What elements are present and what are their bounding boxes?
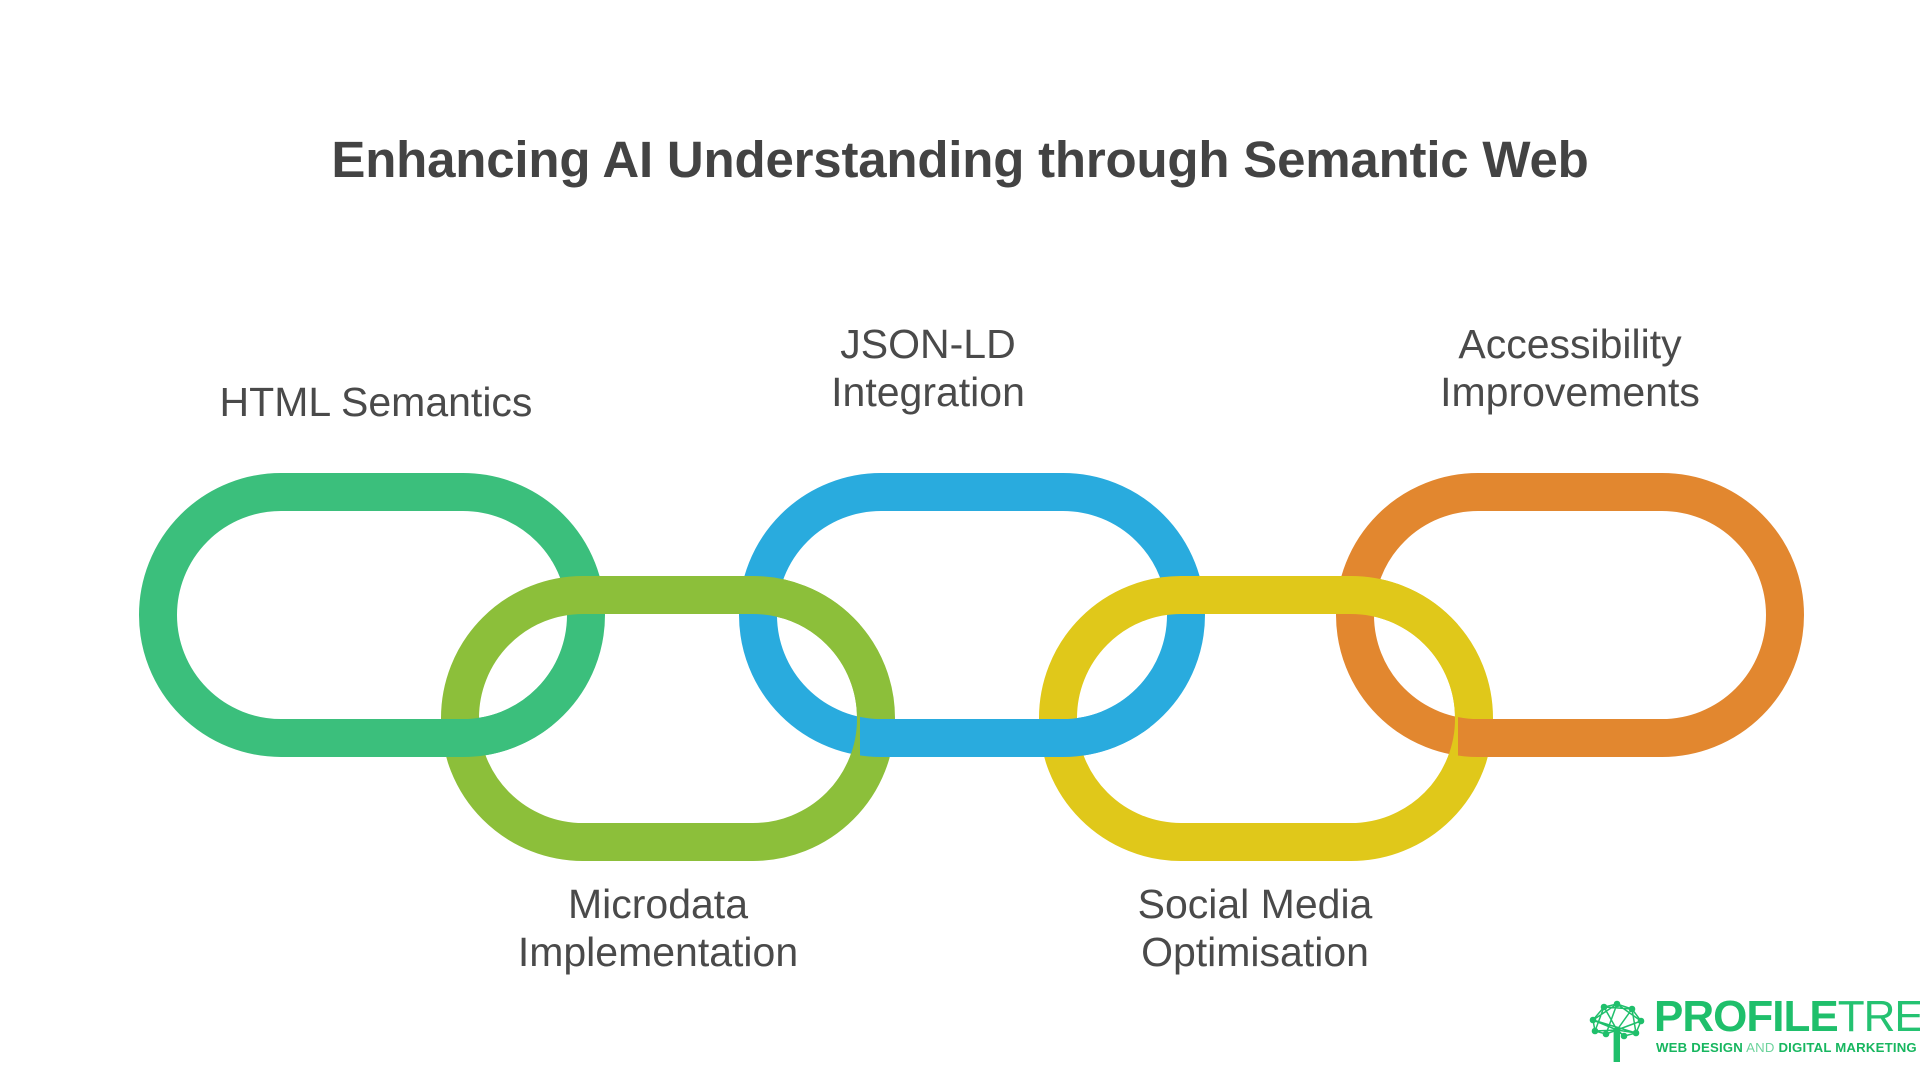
logo-tagline-digital-marketing: DIGITAL MARKETING <box>1778 1040 1916 1055</box>
chain-label-html-semantics: HTML Semantics <box>126 378 626 426</box>
chain-label-accessibility: Accessibility Improvements <box>1340 320 1800 417</box>
logo-word-profile: PROFILE <box>1654 992 1838 1041</box>
chain-label-microdata: Microdata Implementation <box>428 880 888 977</box>
logo-tagline: WEB DESIGN AND DIGITAL MARKETING <box>1656 1040 1920 1055</box>
profiletree-logo[interactable]: PROFILETREE WEB DESIGN AND DIGITAL MARKE… <box>1586 998 1906 1072</box>
logo-tagline-web-design: WEB DESIGN <box>1656 1040 1743 1055</box>
tree-network-icon <box>1586 1000 1648 1062</box>
logo-word-tree: TREE <box>1838 992 1920 1041</box>
logo-wordmark: PROFILETREE <box>1654 996 1920 1037</box>
logo-tagline-and: AND <box>1743 1040 1778 1055</box>
chain-label-social-media: Social Media Optimisation <box>1030 880 1480 977</box>
chain-diagram <box>0 0 1920 1080</box>
infographic-canvas: Enhancing AI Understanding through Seman… <box>0 0 1920 1080</box>
logo-text-block: PROFILETREE WEB DESIGN AND DIGITAL MARKE… <box>1654 998 1920 1055</box>
chain-label-json-ld: JSON-LD Integration <box>718 320 1138 417</box>
